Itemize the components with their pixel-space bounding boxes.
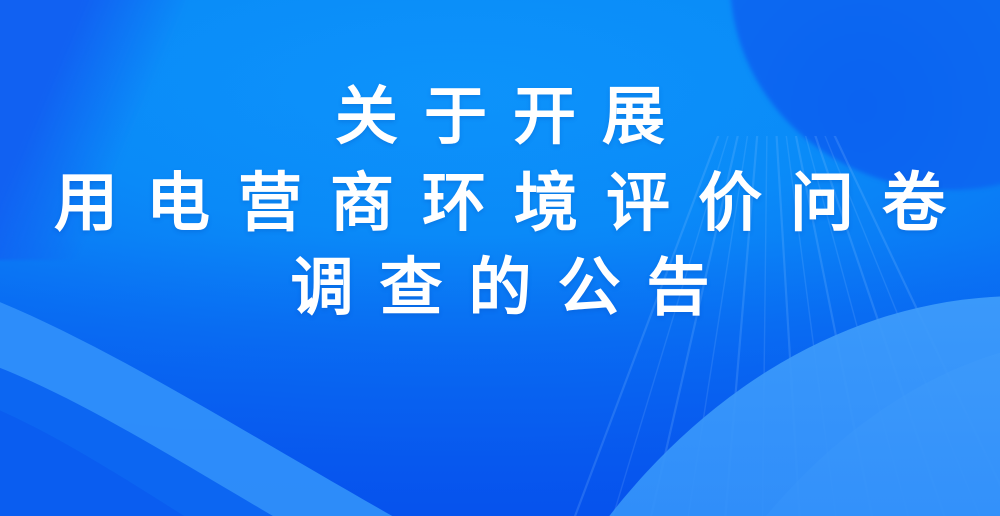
banner-title: 关于开展 用电营商环境评价问卷 调查的公告	[0, 86, 1000, 320]
announcement-banner: 关于开展 用电营商环境评价问卷 调查的公告	[0, 0, 1000, 516]
title-line-1: 关于开展	[0, 86, 1000, 149]
title-line-3: 调查的公告	[0, 257, 1000, 320]
title-line-2: 用电营商环境评价问卷	[0, 171, 1000, 235]
